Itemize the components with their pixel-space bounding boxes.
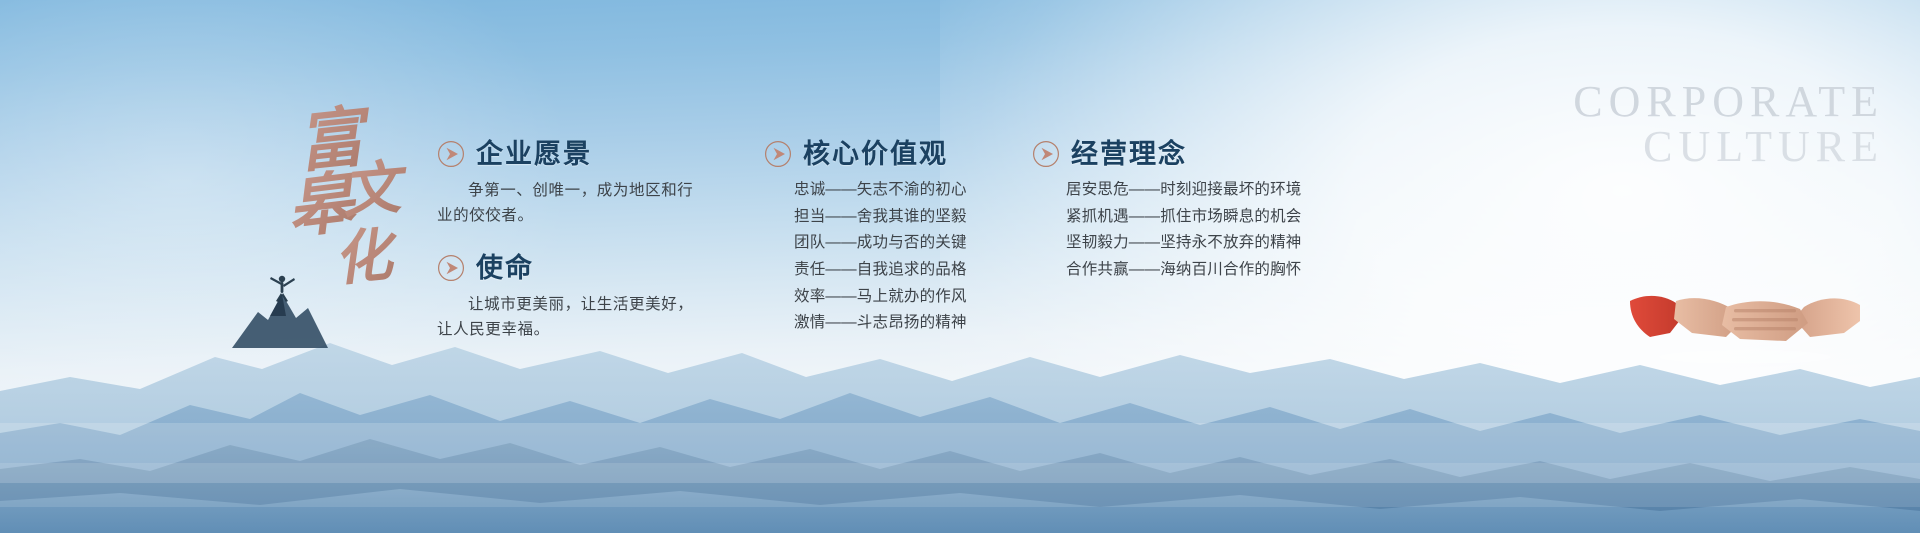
core-values-list: 忠诚——矢志不渝的初心 担当——舍我其谁的坚毅 团队——成功与否的关键 责任——…	[794, 177, 1000, 337]
block-core-values: 核心价值观 忠诚——矢志不渝的初心 担当——舍我其谁的坚毅 团队——成功与否的关…	[760, 140, 1000, 337]
list-item: 忠诚——矢志不渝的初心	[794, 177, 1000, 204]
management-philosophy-heading-row: 经营理念	[1032, 140, 1322, 168]
list-item: 效率——马上就办的作风	[794, 284, 1000, 311]
list-item: 坚韧毅力——坚持永不放弃的精神	[1066, 230, 1322, 257]
block-vision: 企业愿景 争第一、创唯一，成为地区和行业的佼佼者。	[437, 140, 727, 228]
circle-arrow-icon	[437, 140, 465, 168]
list-item: 合作共赢——海纳百川合作的胸怀	[1066, 257, 1322, 284]
management-philosophy-list: 居安思危——时刻迎接最坏的环境 紧抓机遇——抓住市场瞬息的机会 坚韧毅力——坚持…	[1066, 177, 1322, 284]
svg-text:皋: 皋	[283, 166, 361, 247]
clasped-hands-photo	[1630, 271, 1860, 361]
list-item: 责任——自我追求的品格	[794, 257, 1000, 284]
corporate-culture-watermark: CORPORATE CULTURE	[1573, 80, 1884, 170]
svg-text:富: 富	[294, 104, 376, 181]
mission-heading-row: 使命	[437, 254, 727, 282]
circle-arrow-icon	[437, 254, 465, 282]
watermark-line-2: CULTURE	[1573, 125, 1884, 170]
list-item: 担当——舍我其谁的坚毅	[794, 204, 1000, 231]
circle-arrow-icon	[764, 140, 792, 168]
management-philosophy-title: 经营理念	[1071, 141, 1187, 168]
circle-arrow-icon	[1032, 140, 1060, 168]
list-item: 紧抓机遇——抓住市场瞬息的机会	[1066, 204, 1322, 231]
core-values-heading-row: 核心价值观	[764, 140, 1000, 168]
mission-paragraph: 让城市更美丽，让生活更美好，让人民更幸福。	[437, 292, 709, 342]
column-management-philosophy: 经营理念 居安思危——时刻迎接最坏的环境 紧抓机遇——抓住市场瞬息的机会 坚韧毅…	[1032, 140, 1322, 288]
svg-text:文: 文	[339, 154, 411, 225]
list-item: 激情——斗志昂扬的精神	[794, 310, 1000, 337]
block-management-philosophy: 经营理念 居安思危——时刻迎接最坏的环境 紧抓机遇——抓住市场瞬息的机会 坚韧毅…	[1032, 140, 1322, 284]
column-vision-mission: 企业愿景 争第一、创唯一，成为地区和行业的佼佼者。 使命 让城市更美丽，让生活更…	[437, 140, 727, 346]
corporate-culture-banner: CORPORATE CULTURE 富 皋 文 化	[0, 0, 1920, 533]
list-item: 居安思危——时刻迎接最坏的环境	[1066, 177, 1322, 204]
column-core-values: 核心价值观 忠诚——矢志不渝的初心 担当——舍我其谁的坚毅 团队——成功与否的关…	[760, 140, 1000, 341]
vision-paragraph: 争第一、创唯一，成为地区和行业的佼佼者。	[437, 178, 709, 228]
mountain-climber-silhouette	[224, 268, 334, 346]
block-mission: 使命 让城市更美丽，让生活更美好，让人民更幸福。	[437, 254, 727, 342]
core-values-title: 核心价值观	[803, 141, 948, 168]
vision-title: 企业愿景	[476, 141, 592, 168]
vision-heading-row: 企业愿景	[437, 140, 727, 168]
watermark-line-1: CORPORATE	[1573, 80, 1884, 125]
mission-title: 使命	[476, 255, 534, 282]
calligraphy-fugao-culture: 富 皋 文 化	[238, 104, 428, 324]
svg-text:化: 化	[331, 221, 403, 293]
list-item: 团队——成功与否的关键	[794, 230, 1000, 257]
